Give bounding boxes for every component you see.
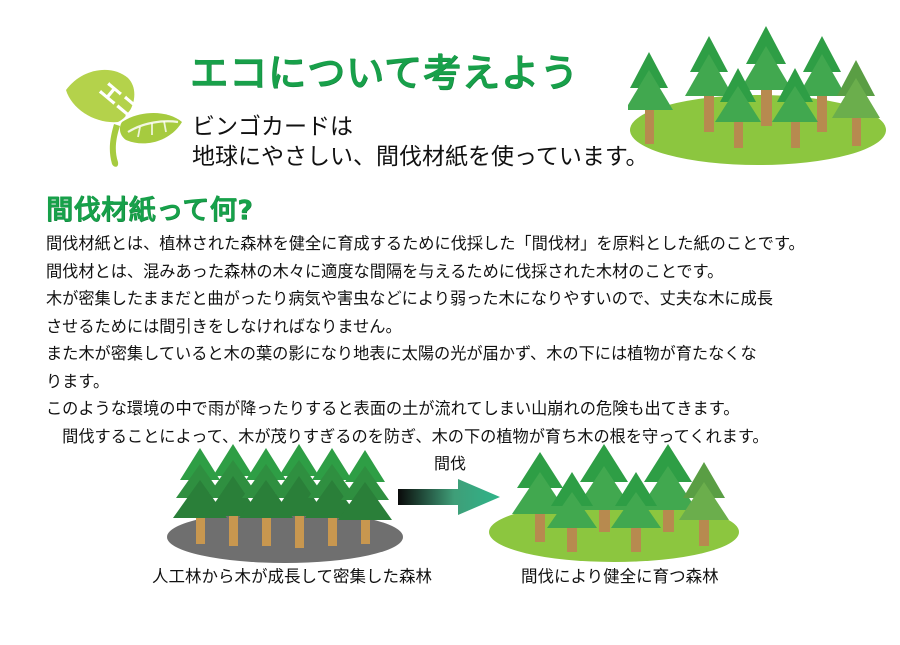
- eco-info-page: エコ エコについて考えよう ビンゴカードは 地球にやさしい、間伐材紙を使っていま…: [0, 0, 900, 645]
- body-line-1: 間伐材紙とは、植林された森林を健全に育成するために伐採した「間伐材」を原料とした…: [46, 230, 876, 258]
- caption-healthy-forest: 間伐により健全に育つ森林: [521, 563, 719, 587]
- eco-leaf-logo: エコ: [52, 52, 192, 172]
- healthy-trees-back: [512, 444, 697, 514]
- header-forest-illustration: [628, 14, 900, 174]
- caption-dense-forest: 人工林から木が成長して密集した森林: [152, 563, 432, 587]
- thinning-diagram: 間伐: [0, 438, 900, 598]
- subtitle-block: ビンゴカードは 地球にやさしい、間伐材紙を使っています。: [192, 112, 649, 173]
- body-line-5: また木が密集していると木の葉の影になり地表に太陽の光が届かず、木の下には植物が育…: [46, 340, 876, 368]
- body-line-4: させるためには間引きをしなければなりません。: [46, 313, 876, 341]
- subtitle-line-1: ビンゴカードは: [192, 112, 649, 142]
- dense-forest-illustration: [165, 440, 405, 570]
- body-copy: 間伐材紙とは、植林された森林を健全に育成するために伐採した「間伐材」を原料とした…: [46, 230, 876, 450]
- page-title: エコについて考えよう: [190, 52, 579, 95]
- subtitle-line-2: 地球にやさしい、間伐材紙を使っています。: [192, 142, 649, 172]
- body-line-7: このような環境の中で雨が降ったりすると表面の土が流れてしまい山崩れの危険も出てき…: [46, 395, 876, 423]
- healthy-forest-illustration: [487, 440, 742, 570]
- body-line-6: ります。: [46, 368, 876, 396]
- leaf-stem-shape: [110, 124, 120, 167]
- section-heading: 間伐材紙って何?: [46, 188, 253, 227]
- healthy-trees-front: [547, 462, 729, 528]
- body-line-3: 木が密集したままだと曲がったり病気や害虫などにより弱った木になりやすいので、丈夫…: [46, 285, 876, 313]
- body-line-2: 間伐材とは、混みあった森林の木々に適度な間隔を与えるために伐採された木材のことで…: [46, 258, 876, 286]
- dense-trees: [173, 444, 392, 520]
- forest-trees-front: [715, 60, 880, 122]
